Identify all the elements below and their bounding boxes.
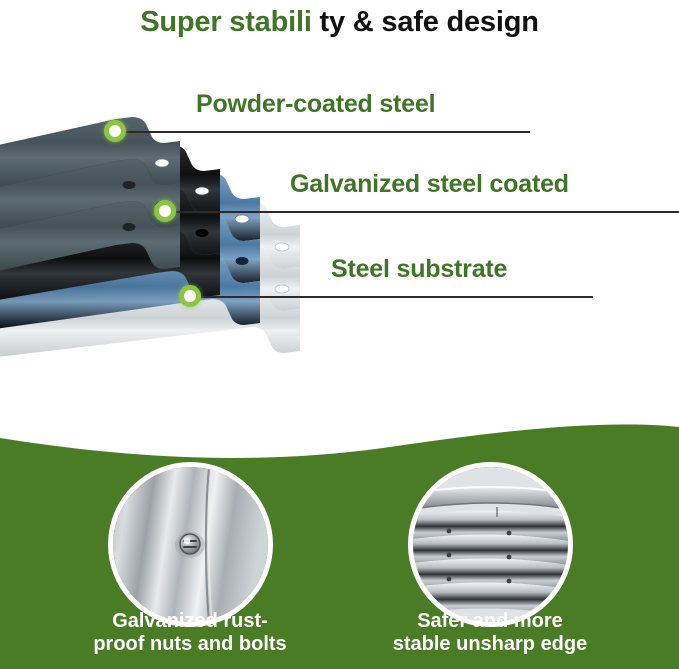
callout-label-galvanized-steel-coated: Galvanized steel coated xyxy=(290,170,569,199)
callout-dot-powder-coated xyxy=(104,120,126,142)
product-infographic: Super stabili ty & safe design xyxy=(0,0,679,669)
callout-label-powder-coated-steel: Powder-coated steel xyxy=(196,90,435,119)
leader-line-steel-substrate xyxy=(190,296,593,298)
page-title: Super stabili ty & safe design xyxy=(0,0,679,44)
callout-dot-galvanized xyxy=(154,200,176,222)
photo-unsharp-edge xyxy=(408,462,573,627)
title-green-segment: Super stabili xyxy=(140,6,311,38)
callout-dot-steel-substrate xyxy=(179,285,201,307)
leader-line-powder-coated xyxy=(115,131,530,133)
title-dark-segment: ty & safe design xyxy=(312,6,539,38)
photo-nuts-and-bolts xyxy=(108,462,273,627)
caption-nuts-and-bolts: Galvanized rust- proof nuts and bolts xyxy=(45,610,335,656)
leader-line-galvanized xyxy=(165,211,679,213)
callout-label-steel-substrate: Steel substrate xyxy=(331,255,507,284)
caption-unsharp-edge: Safer and more stable unsharp edge xyxy=(345,610,635,656)
